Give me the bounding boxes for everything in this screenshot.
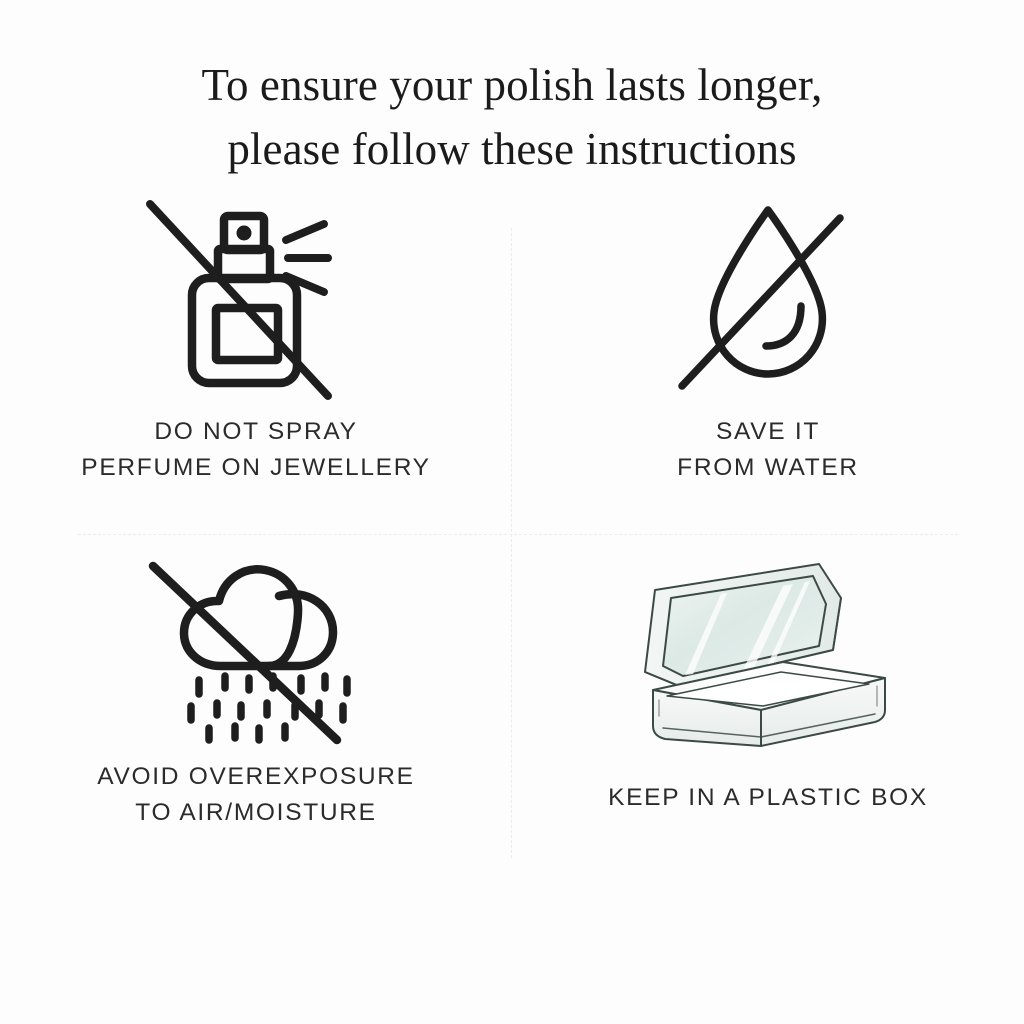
- perfume-bottle-prohibited-icon: [156, 196, 356, 396]
- caption-line-2: PERFUME ON JEWELLERY: [81, 450, 430, 486]
- instruction-item-no-water: SAVE IT FROM WATER: [512, 196, 1024, 486]
- instruction-item-no-moisture: AVOID OVEREXPOSURE TO AIR/MOISTURE: [0, 548, 512, 831]
- page-title-line-2: please follow these instructions: [0, 118, 1024, 182]
- horizontal-divider: [78, 534, 958, 535]
- water-drop-prohibited-icon: [668, 196, 868, 396]
- instruction-caption: DO NOT SPRAY PERFUME ON JEWELLERY: [81, 414, 430, 486]
- prohibition-slash: [153, 566, 337, 740]
- instruction-item-no-perfume: DO NOT SPRAY PERFUME ON JEWELLERY: [0, 196, 512, 486]
- page-title: To ensure your polish lasts longer, plea…: [0, 54, 1024, 182]
- caption-line-1: DO NOT SPRAY: [81, 414, 430, 450]
- nozzle-dot: [237, 226, 252, 241]
- instruction-item-plastic-box: KEEP IN A PLASTIC BOX: [512, 548, 1024, 816]
- caption-line-1: SAVE IT: [677, 414, 859, 450]
- caption-line-1: KEEP IN A PLASTIC BOX: [608, 780, 928, 816]
- open-plastic-box-icon: [623, 550, 913, 750]
- caption-line-2: TO AIR/MOISTURE: [97, 795, 414, 831]
- caption-line-1: AVOID OVEREXPOSURE: [97, 759, 414, 795]
- drop-highlight-arc: [766, 306, 801, 346]
- instruction-caption: KEEP IN A PLASTIC BOX: [608, 780, 928, 816]
- care-instructions-infographic: To ensure your polish lasts longer, plea…: [0, 0, 1024, 1024]
- instruction-caption: AVOID OVEREXPOSURE TO AIR/MOISTURE: [97, 759, 414, 831]
- rain-cloud-prohibited-icon: [151, 548, 361, 743]
- instruction-caption: SAVE IT FROM WATER: [677, 414, 859, 486]
- page-title-line-1: To ensure your polish lasts longer,: [0, 54, 1024, 118]
- caption-line-2: FROM WATER: [677, 450, 859, 486]
- spray-lines: [286, 224, 328, 292]
